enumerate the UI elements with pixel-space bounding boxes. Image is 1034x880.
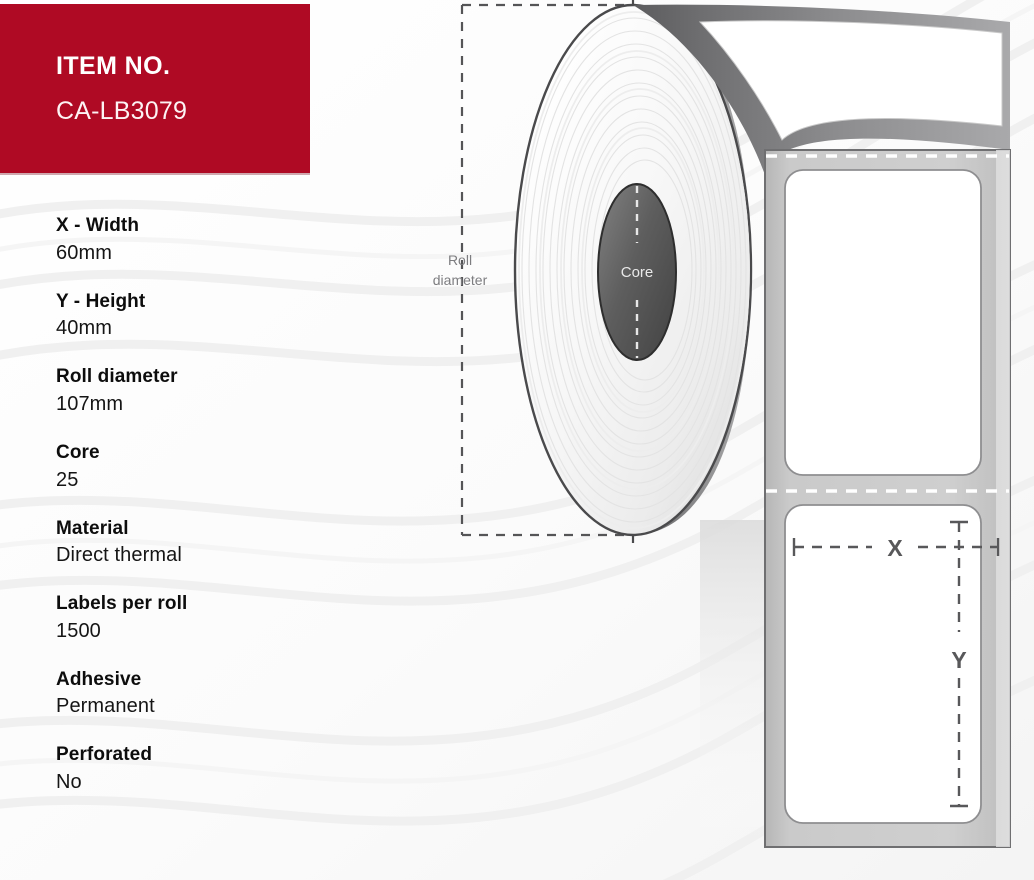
spec-row-height: Y - Height 40mm <box>56 289 346 343</box>
label-face-lower <box>785 505 981 823</box>
spec-row-roll-diameter: Roll diameter 107mm <box>56 364 346 418</box>
y-dimension <box>950 522 968 806</box>
spec-value: 25 <box>56 466 346 494</box>
core-label: Core <box>621 264 654 281</box>
spec-value: 1500 <box>56 617 346 645</box>
spec-label: Y - Height <box>56 289 346 315</box>
product-spec-sheet: ITEM NO. CA-LB3079 X - Width 60mm Y - He… <box>0 0 1034 880</box>
x-dimension-label: X <box>887 535 903 561</box>
spec-label: Roll diameter <box>56 364 346 390</box>
spec-value: 40mm <box>56 314 346 342</box>
spec-row-material: Material Direct thermal <box>56 516 346 570</box>
spec-value: 107mm <box>56 390 346 418</box>
spec-row-adhesive: Adhesive Permanent <box>56 667 346 721</box>
label-roll-body <box>515 5 751 535</box>
spec-row-core: Core 25 <box>56 440 346 494</box>
item-number-banner: ITEM NO. CA-LB3079 <box>0 4 310 173</box>
spec-label: Adhesive <box>56 667 346 693</box>
web-ground-shadow <box>700 520 780 850</box>
roll-core: Core <box>598 184 676 360</box>
spec-value: Permanent <box>56 692 346 720</box>
item-no-heading: ITEM NO. <box>56 54 170 79</box>
label-face-upper <box>785 170 981 475</box>
roll-face <box>515 5 751 535</box>
y-dimension-label: Y <box>951 647 966 673</box>
roll-diameter-guide <box>462 5 633 535</box>
spec-label: Core <box>56 440 346 466</box>
spec-label: Perforated <box>56 742 346 768</box>
core-ellipse <box>598 184 676 360</box>
item-code-value: CA-LB3079 <box>56 99 187 124</box>
spec-row-perforated: Perforated No <box>56 742 346 796</box>
label-liner-strip <box>765 150 1010 847</box>
label-web-over-roll <box>633 5 1010 175</box>
spec-row-labels-per-roll: Labels per roll 1500 <box>56 591 346 645</box>
roll-diameter-guide-label-line1: Roll <box>448 252 472 268</box>
spec-value: No <box>56 768 346 796</box>
specification-list: X - Width 60mm Y - Height 40mm Roll diam… <box>56 213 346 818</box>
spec-label: Material <box>56 516 346 542</box>
roll-diameter-guide-label-line2: diameter <box>433 272 488 288</box>
spec-value: Direct thermal <box>56 541 346 569</box>
spec-label: X - Width <box>56 213 346 239</box>
x-dimension <box>794 538 998 556</box>
spec-label: Labels per roll <box>56 591 346 617</box>
spec-value: 60mm <box>56 239 346 267</box>
spec-row-width: X - Width 60mm <box>56 213 346 267</box>
